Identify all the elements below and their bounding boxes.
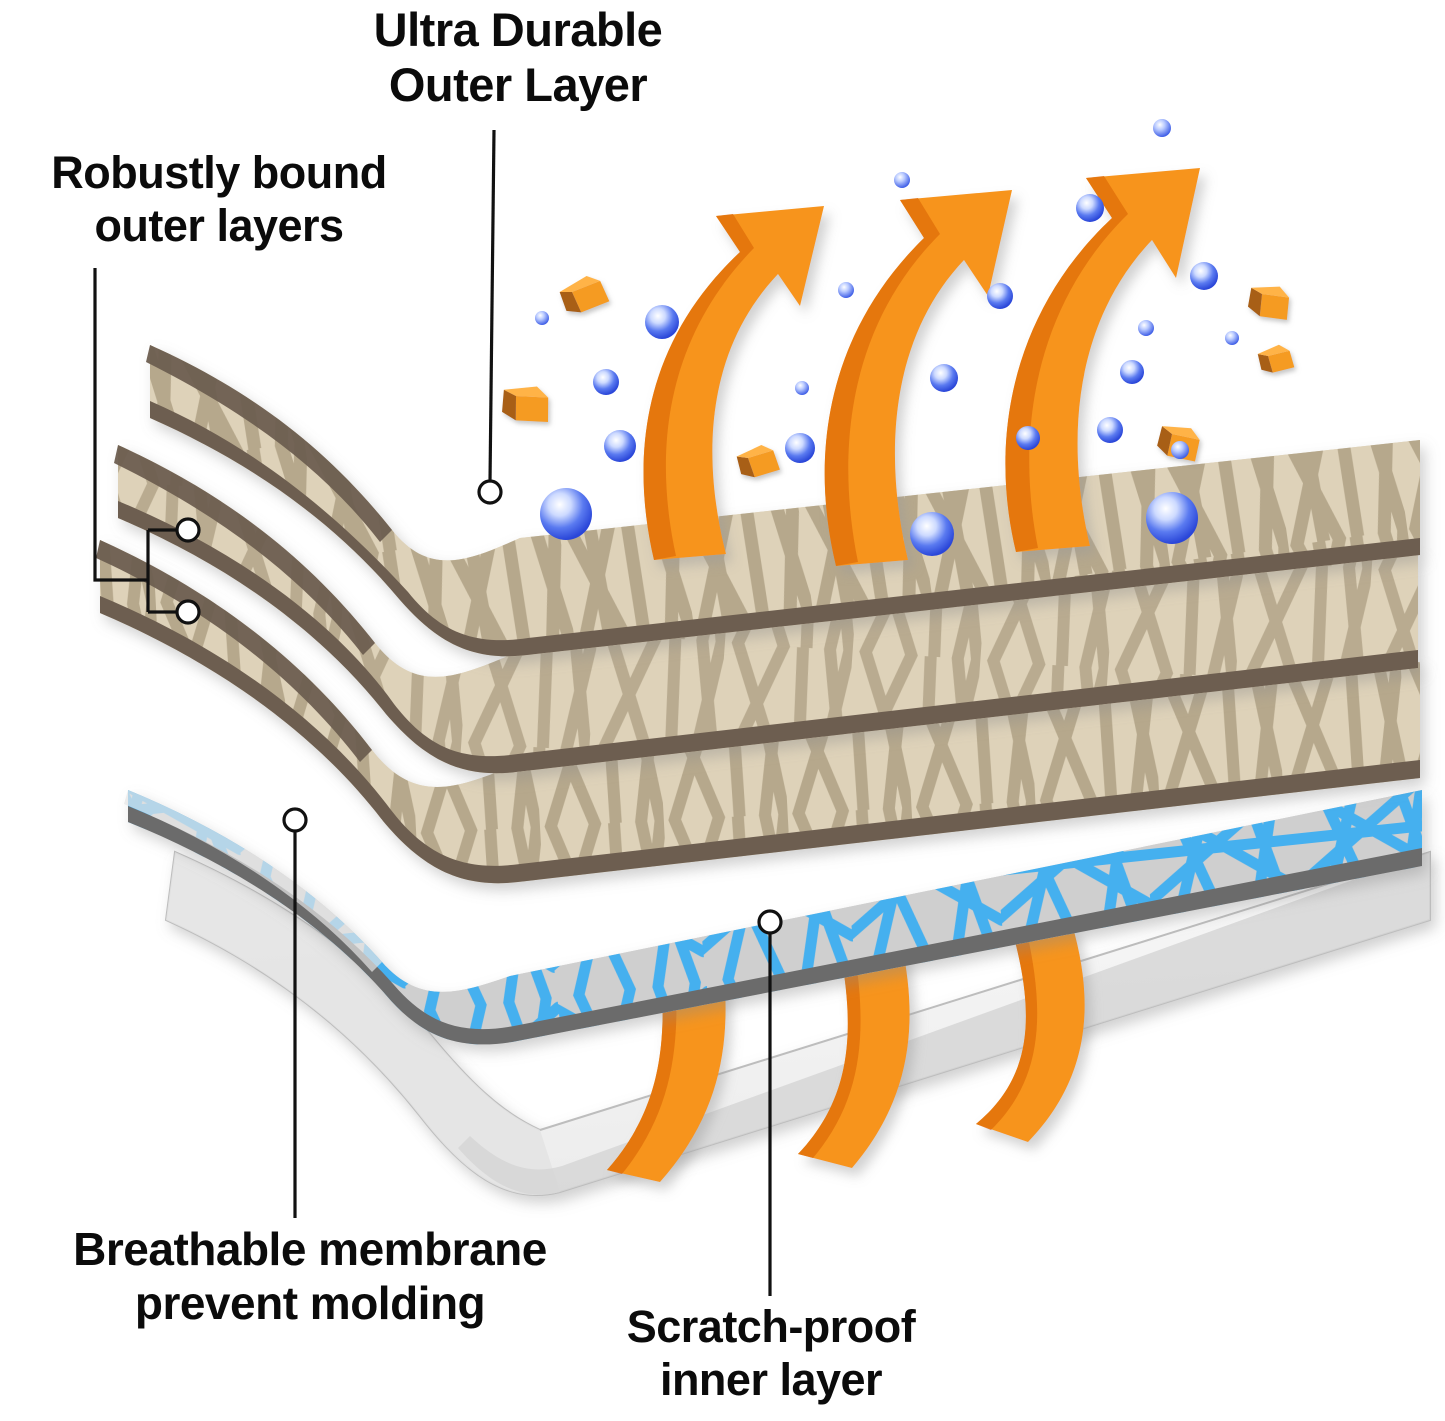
leader-breathable-membrane: [284, 809, 306, 1218]
leader-ultra-durable: [479, 130, 501, 503]
label-robustly-bound-outer-layers: Robustly bound outer layers: [4, 146, 434, 252]
label-scratch-proof-inner-layer: Scratch-proof inner layer: [576, 1300, 966, 1406]
inner-layer-sheet: [166, 852, 1430, 1195]
label-breathable-membrane: Breathable membrane prevent molding: [0, 1222, 620, 1331]
infographic-canvas: Ultra Durable Outer Layer Robustly bound…: [0, 0, 1445, 1421]
label-ultra-durable-outer-layer: Ultra Durable Outer Layer: [318, 2, 718, 113]
